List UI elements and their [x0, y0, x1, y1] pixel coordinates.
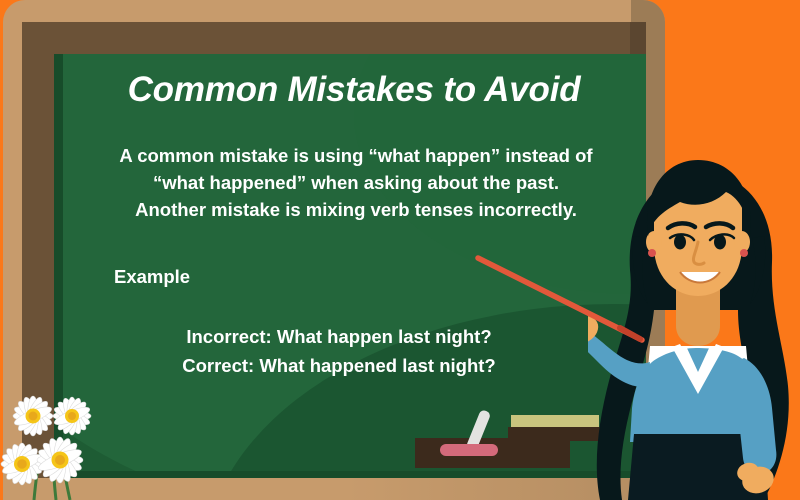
slide-canvas: Common Mistakes to Avoid A common mistak…: [0, 0, 800, 500]
daisy-1: [12, 395, 53, 436]
board-title: Common Mistakes to Avoid: [54, 70, 646, 110]
daisy-2: [52, 396, 91, 435]
pink-eraser: [440, 444, 498, 456]
teacher-illustration: [588, 150, 800, 500]
earring-left: [648, 249, 656, 257]
body-line-3: Another mistake is mixing verb tenses in…: [62, 196, 646, 223]
example-heading: Example: [114, 266, 190, 288]
example-incorrect-line: Incorrect: What happen last night?: [54, 322, 624, 351]
body-line-1: A common mistake is using “what happen” …: [62, 142, 646, 169]
daisy-4: [36, 436, 83, 483]
body-line-2: “what happened” when asking about the pa…: [62, 169, 646, 196]
daisy-flowers: [0, 372, 150, 500]
board-body-copy: A common mistake is using “what happen” …: [62, 142, 646, 223]
eye-left: [674, 235, 686, 250]
earring-right: [740, 249, 748, 257]
